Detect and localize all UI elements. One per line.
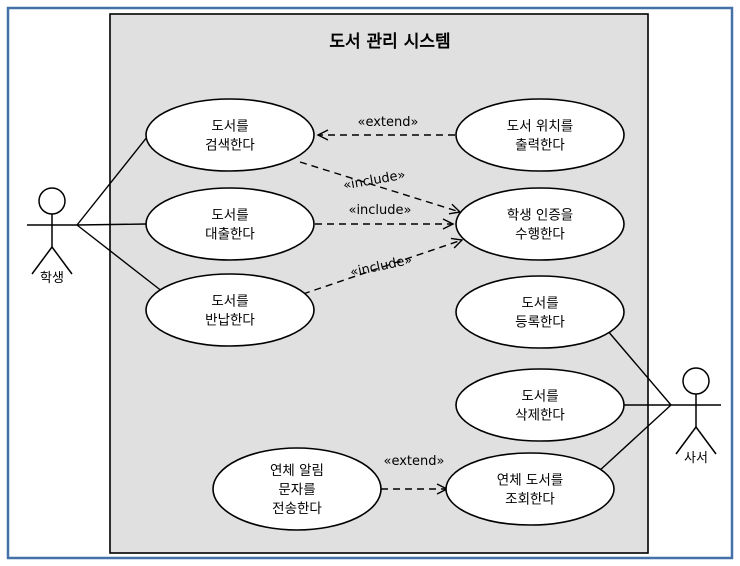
actor-leg-left-icon — [676, 427, 696, 454]
use-case-label-line: 학생 인증을 — [507, 208, 573, 224]
actor-leg-left-icon — [32, 247, 52, 274]
use-case-ellipse[interactable] — [456, 369, 624, 441]
use-case-label-line: 도서를 — [211, 208, 248, 224]
use-case-label-line: 조회한다 — [505, 492, 555, 508]
use-case-ellipse[interactable] — [456, 99, 624, 171]
use-case-diagram: 도서 관리 시스템 «extend»«include»«include»«inc… — [0, 0, 740, 566]
actor-student[interactable]: 학생 — [27, 188, 77, 286]
actor-label: 학생 — [40, 271, 64, 286]
use-case-label-line: 삭제한다 — [515, 408, 565, 424]
association-student-to-borrow — [77, 224, 146, 225]
use-case-label-line: 도서 위치를 — [507, 119, 573, 135]
use-case-lookup-overdue-book[interactable]: 연체 도서를조회한다 — [446, 453, 614, 525]
use-case-ellipse[interactable] — [456, 276, 624, 348]
use-case-ellipse[interactable] — [446, 453, 614, 525]
actor-head-icon — [39, 188, 65, 214]
use-case-borrow-book[interactable]: 도서를대출한다 — [146, 188, 314, 260]
use-case-ellipse[interactable] — [146, 274, 314, 346]
use-case-label-line: 반납한다 — [205, 313, 255, 329]
diagram-canvas: 도서 관리 시스템 «extend»«include»«include»«inc… — [0, 0, 740, 566]
use-case-label-line: 도서를 — [521, 296, 558, 312]
use-case-label-line: 검색한다 — [205, 138, 255, 154]
use-case-ellipse[interactable] — [146, 188, 314, 260]
stereotype-label: «include» — [348, 203, 411, 218]
use-case-label-line: 문자를 — [278, 482, 315, 498]
use-case-search-book[interactable]: 도서를검색한다 — [146, 99, 314, 171]
actor-leg-right-icon — [696, 427, 716, 454]
use-case-send-overdue-sms[interactable]: 연체 알림문자를전송한다 — [213, 448, 381, 530]
stereotype-label: «extend» — [384, 454, 445, 469]
use-case-label-line: 전송한다 — [272, 501, 322, 517]
use-case-label-line: 도서를 — [521, 389, 558, 405]
use-case-label-line: 도서를 — [211, 294, 248, 310]
use-case-delete-book[interactable]: 도서를삭제한다 — [456, 369, 624, 441]
use-case-label-line: 대출한다 — [205, 227, 255, 243]
actor-label: 사서 — [684, 451, 708, 466]
use-case-ellipse[interactable] — [456, 188, 624, 260]
use-case-label-line: 등록한다 — [515, 315, 565, 331]
actor-head-icon — [683, 368, 709, 394]
use-case-print-book-location[interactable]: 도서 위치를출력한다 — [456, 99, 624, 171]
use-case-student-authentication[interactable]: 학생 인증을수행한다 — [456, 188, 624, 260]
system-title: 도서 관리 시스템 — [329, 32, 450, 52]
stereotype-label: «extend» — [358, 115, 419, 130]
use-case-label-line: 출력한다 — [515, 138, 565, 154]
use-case-register-book[interactable]: 도서를등록한다 — [456, 276, 624, 348]
use-case-label-line: 연체 알림 — [270, 463, 324, 479]
actor-leg-right-icon — [52, 247, 72, 274]
use-case-return-book[interactable]: 도서를반납한다 — [146, 274, 314, 346]
use-case-label-line: 수행한다 — [515, 227, 565, 243]
use-case-ellipse[interactable] — [146, 99, 314, 171]
use-case-label-line: 도서를 — [211, 119, 248, 135]
use-case-label-line: 연체 도서를 — [497, 473, 563, 489]
actor-librarian[interactable]: 사서 — [671, 368, 721, 466]
